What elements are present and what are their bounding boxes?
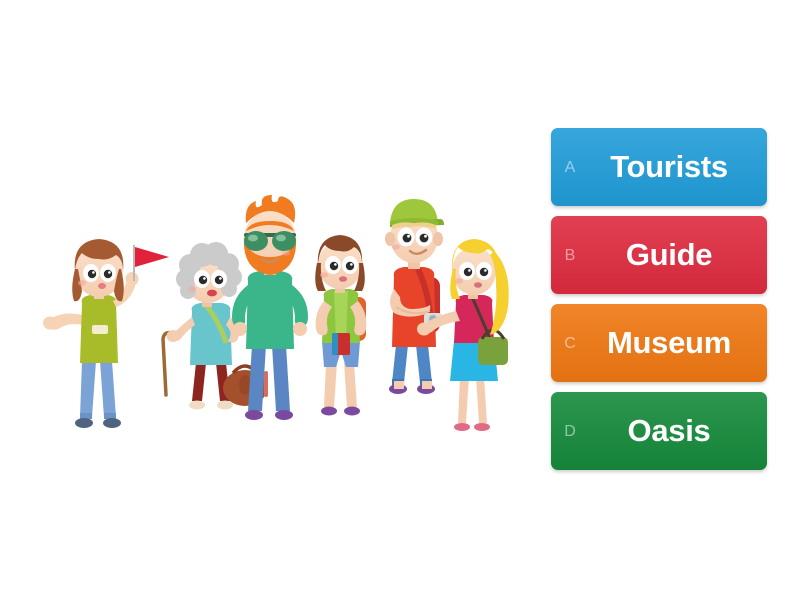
figure-boy-with-cap — [385, 199, 444, 394]
answer-label-c: Museum — [589, 327, 767, 360]
answer-letter-d: D — [551, 422, 589, 440]
figure-tour-guide — [43, 239, 169, 428]
answer-option-a[interactable]: A Tourists — [551, 128, 767, 206]
answer-letter-b: B — [551, 246, 589, 264]
answer-option-d[interactable]: D Oasis — [551, 392, 767, 470]
answer-label-b: Guide — [589, 239, 767, 272]
figure-girl-tourist — [315, 235, 366, 416]
answer-letter-c: C — [551, 334, 589, 352]
answer-letter-a: A — [551, 158, 589, 176]
answer-label-d: Oasis — [589, 415, 767, 448]
tour-guide-and-tourists-illustration — [20, 185, 540, 465]
answer-option-c[interactable]: C Museum — [551, 304, 767, 382]
quiz-screen: A Tourists B Guide C Museum D Oasis — [0, 0, 800, 600]
answer-label-a: Tourists — [589, 151, 767, 184]
answer-option-b[interactable]: B Guide — [551, 216, 767, 294]
answer-options: A Tourists B Guide C Museum D Oasis — [551, 128, 767, 472]
